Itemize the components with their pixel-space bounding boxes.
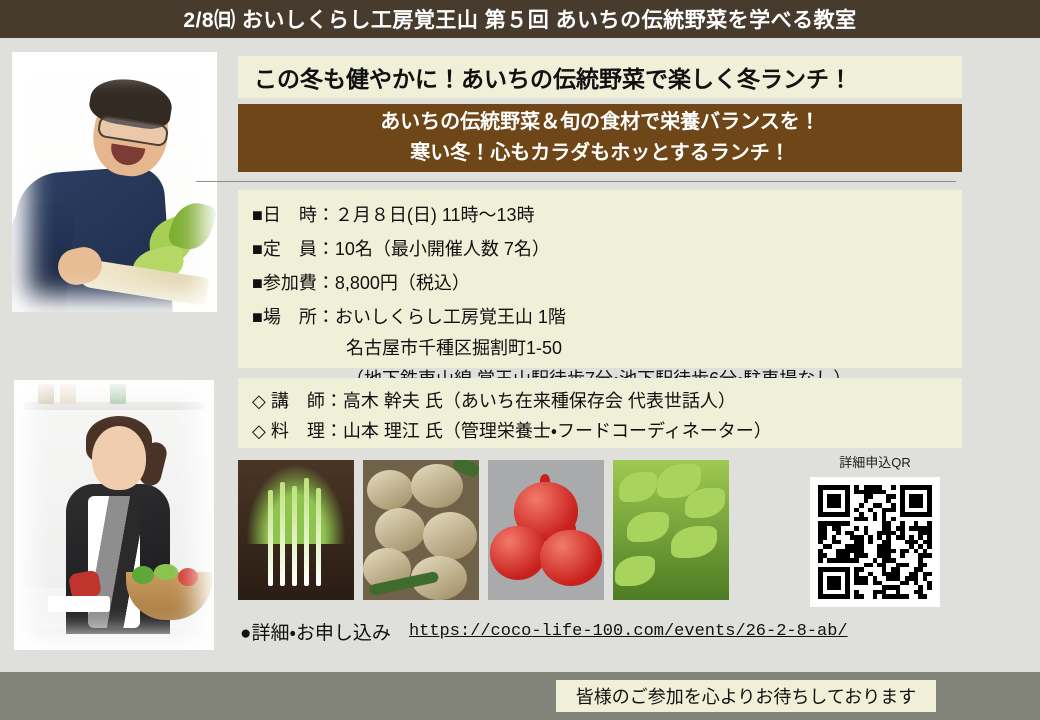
headline-cream-text: この冬も健やかに！あいちの伝統野菜で楽しく冬ランチ！ bbox=[238, 60, 852, 94]
divider-rule bbox=[196, 181, 956, 182]
photo-vignette bbox=[14, 380, 214, 650]
onion-stalk bbox=[304, 478, 309, 586]
vegetable-photo-leafy-greens bbox=[613, 460, 729, 600]
header-bar: 2/8㈰ おいしくらし工房覚王山 第５回 あいちの伝統野菜を学べる教室 bbox=[0, 0, 1040, 38]
qr-label: 詳細申込QR bbox=[805, 452, 945, 471]
headline-cream-banner: この冬も健やかに！あいちの伝統野菜で楽しく冬ランチ！ bbox=[238, 56, 962, 98]
qr-code[interactable] bbox=[810, 477, 940, 607]
vegetable-photo-strip bbox=[238, 460, 729, 600]
onion-bulb bbox=[423, 512, 477, 560]
footer-message-box: 皆様のご参加を心よりお待ちしております bbox=[556, 680, 936, 712]
farmer-photo bbox=[12, 52, 217, 312]
tomato bbox=[540, 530, 602, 586]
photo-vignette bbox=[12, 52, 217, 312]
tomato bbox=[490, 526, 546, 580]
detail-venue: ■場 所：おいしくらし工房覚王山 1階 bbox=[238, 308, 566, 326]
photo-column bbox=[12, 52, 217, 312]
staff-lecturer: ◇ 講 師：高木 幹夫 氏（あいち在来種保存会 代表世話人） bbox=[238, 392, 736, 410]
apply-line: ●詳細・お申し込み https://coco-life-100.com/even… bbox=[240, 618, 848, 645]
onion-stalk bbox=[268, 490, 273, 586]
apply-url-link[interactable]: https://coco-life-100.com/events/26-2-8-… bbox=[409, 622, 848, 641]
detail-datetime: ■日 時：２月８日(日) 11時〜13時 bbox=[238, 206, 535, 224]
qr-section: 詳細申込QR bbox=[805, 452, 945, 607]
event-details-box: ■日 時：２月８日(日) 11時〜13時 ■定 員：10名（最小開催人数 7名）… bbox=[238, 190, 962, 368]
qr-grid bbox=[818, 485, 932, 599]
detail-fee: ■参加費：8,800円（税込） bbox=[238, 274, 470, 292]
vegetable-photo-tomatoes bbox=[488, 460, 604, 600]
detail-capacity: ■定 員：10名（最小開催人数 7名） bbox=[238, 240, 550, 258]
onion-bulb bbox=[367, 470, 413, 510]
page-title: 2/8㈰ おいしくらし工房覚王山 第５回 あいちの伝統野菜を学べる教室 bbox=[183, 4, 856, 34]
staff-box: ◇ 講 師：高木 幹夫 氏（あいち在来種保存会 代表世話人） ◇ 料 理：山本 … bbox=[238, 378, 962, 448]
vegetable-photo-green-onion bbox=[238, 460, 354, 600]
headline-brown-line-2: 寒い冬！心もカラダもホッとするランチ！ bbox=[410, 138, 789, 169]
footer-message: 皆様のご参加を心よりお待ちしております bbox=[576, 683, 917, 709]
staff-chef: ◇ 料 理：山本 理江 氏（管理栄養士・フードコーディネーター） bbox=[238, 422, 772, 440]
onion-stalk bbox=[316, 488, 321, 586]
onion-bulb bbox=[375, 508, 425, 552]
detail-venue-address: 名古屋市千種区掘割町1-50 bbox=[238, 339, 562, 357]
apply-label: ●詳細・お申し込み bbox=[240, 618, 391, 645]
cook-photo bbox=[14, 380, 214, 650]
onion-stalk bbox=[280, 482, 285, 586]
headline-brown-banner: あいちの伝統野菜＆旬の食材で栄養バランスを！ 寒い冬！心もカラダもホッとするラン… bbox=[238, 104, 962, 172]
vegetable-photo-onions bbox=[363, 460, 479, 600]
onion-bulb bbox=[411, 464, 463, 508]
headline-brown-line-1: あいちの伝統野菜＆旬の食材で栄養バランスを！ bbox=[380, 107, 820, 138]
onion-stalk bbox=[292, 486, 297, 586]
